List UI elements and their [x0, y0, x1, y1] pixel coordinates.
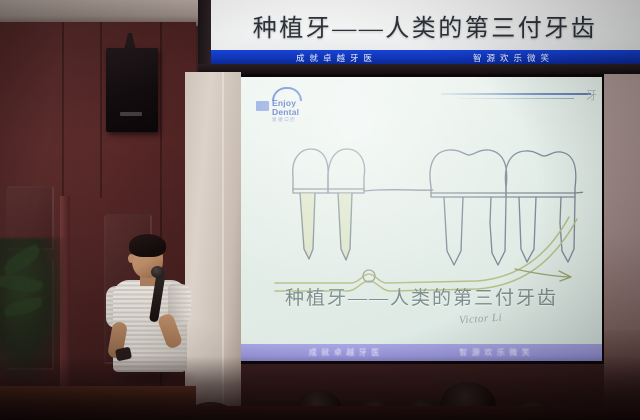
presentation-slide: Enjoy Dental 恩捷口腔 牙 — [241, 77, 602, 361]
wood-seam — [100, 22, 102, 198]
implant-root-left — [300, 193, 315, 259]
slide-bottom-banner: 成就卓越牙医 智源欢乐微笑 — [241, 344, 602, 361]
presenter-hair — [129, 234, 166, 257]
photo-scene: 种植牙——人类的第三付牙齿 成就卓越牙医 智源欢乐微笑 Enjoy Dental… — [0, 0, 640, 420]
molar-right-root-d1 — [560, 197, 561, 223]
upper-banner-right-text: 智源欢乐微笑 — [473, 52, 554, 64]
slide-banner-right-text: 智源欢乐微笑 — [459, 347, 534, 358]
foreground-base — [0, 406, 640, 420]
enjoy-dental-logo: Enjoy Dental 恩捷口腔 — [265, 87, 311, 123]
tooth-sketch-svg — [263, 131, 583, 306]
speaker-brand-logo — [120, 112, 142, 116]
screen-frame-bottom — [198, 64, 640, 74]
molar-right-gumline — [506, 191, 583, 193]
gumline-span — [364, 190, 433, 191]
sketch-signature: Victor Li — [459, 312, 503, 327]
molar-center-root-mesial — [444, 197, 462, 265]
implant-crown-right — [328, 149, 365, 193]
tooth-sketch-diagram: Victor Li — [263, 131, 583, 306]
molar-center-root-link — [462, 197, 463, 223]
molar-center-crown — [430, 150, 507, 197]
implant-crown-left — [293, 149, 328, 193]
presenter — [96, 226, 208, 386]
molar-right-root-mesial — [519, 197, 535, 262]
front-table-edge — [0, 386, 196, 408]
molar-right-root-link — [535, 197, 536, 223]
molar-center-root-d1 — [490, 197, 491, 223]
implant-root-right — [338, 193, 352, 260]
nerve-canal-lower — [275, 219, 577, 291]
wall-speaker — [106, 48, 158, 132]
logo-chinese: 恩捷口腔 — [272, 117, 296, 123]
molar-center-root-distal — [490, 197, 506, 265]
slide-banner-left-text: 成就卓越牙医 — [309, 347, 384, 358]
upper-banner-left-text: 成就卓越牙医 — [296, 52, 377, 64]
slide-caption: 种植牙——人类的第三付牙齿 — [241, 283, 602, 310]
slide-decor-rule-top — [441, 93, 591, 95]
upper-projection-banner: 成就卓越牙医 智源欢乐微笑 — [210, 50, 640, 65]
molar-right-crown — [505, 151, 575, 197]
pillar-highlight-edge — [222, 72, 224, 420]
screen-frame-left — [198, 0, 211, 72]
slide-decor-rule-bottom — [459, 98, 574, 99]
slide-corner-mark: 牙 — [586, 87, 596, 103]
upper-projection-title: 种植牙——人类的第三付牙齿 — [210, 0, 640, 50]
microphone-icon — [151, 266, 164, 278]
nerve-canal-upper — [275, 217, 569, 283]
presenter-ear — [128, 254, 134, 263]
logo-line2: Dental — [272, 108, 299, 117]
logo-square-icon — [256, 101, 269, 111]
